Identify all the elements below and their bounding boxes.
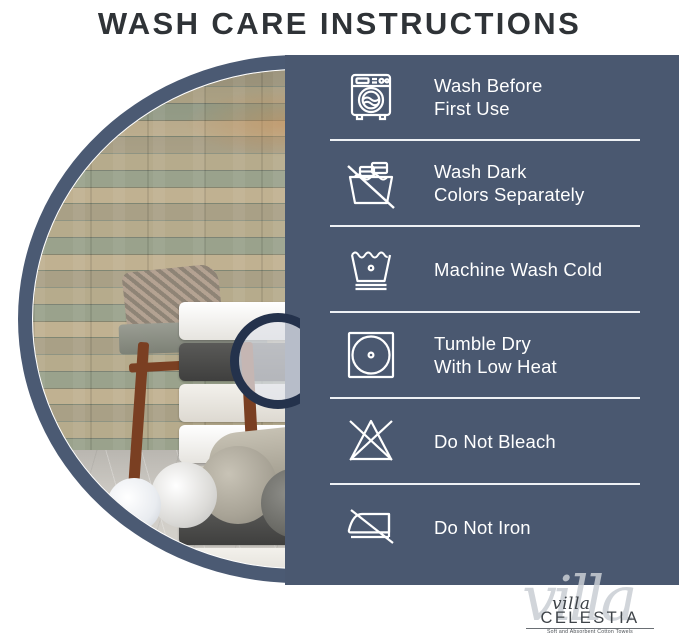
instructions-list: Wash Before First Use Wash Dark Colors S… (330, 55, 679, 585)
instruction-row-machine-wash-cold: Machine Wash Cold (330, 227, 679, 311)
instruction-row-wash-before-first-use: Wash Before First Use (330, 55, 679, 139)
instruction-row-do-not-iron: Do Not Iron (330, 485, 679, 569)
product-photo-circle (0, 55, 300, 585)
washing-machine-icon (340, 66, 402, 128)
page-title: WASH CARE INSTRUCTIONS (0, 0, 679, 48)
logo-brand-name: CELESTIA (524, 609, 656, 628)
instruction-label: Wash Before First Use (434, 74, 542, 120)
instruction-label: Do Not Iron (434, 516, 531, 539)
instruction-row-tumble-dry-low-heat: Tumble Dry With Low Heat (330, 313, 679, 397)
instruction-label: Tumble Dry With Low Heat (434, 332, 557, 378)
wash-tub-cold-icon (340, 238, 402, 300)
tumble-dry-low-icon (340, 324, 402, 386)
instruction-label: Do Not Bleach (434, 430, 556, 453)
brand-logo: villa villa CELESTIA Soft and Absorbent … (500, 565, 679, 642)
instruction-row-do-not-bleach: Do Not Bleach (330, 399, 679, 483)
instruction-label: Wash Dark Colors Separately (434, 160, 584, 206)
do-not-iron-icon (340, 496, 402, 558)
instructions-panel: Wash Before First Use Wash Dark Colors S… (285, 55, 679, 585)
instruction-label: Machine Wash Cold (434, 258, 602, 281)
laundry-basket-no-icon (340, 152, 402, 214)
do-not-bleach-icon (340, 410, 402, 472)
instruction-row-wash-dark-colors-separately: Wash Dark Colors Separately (330, 141, 679, 225)
logo-tagline: Soft and Absorbent Cotton Towels (524, 629, 656, 635)
